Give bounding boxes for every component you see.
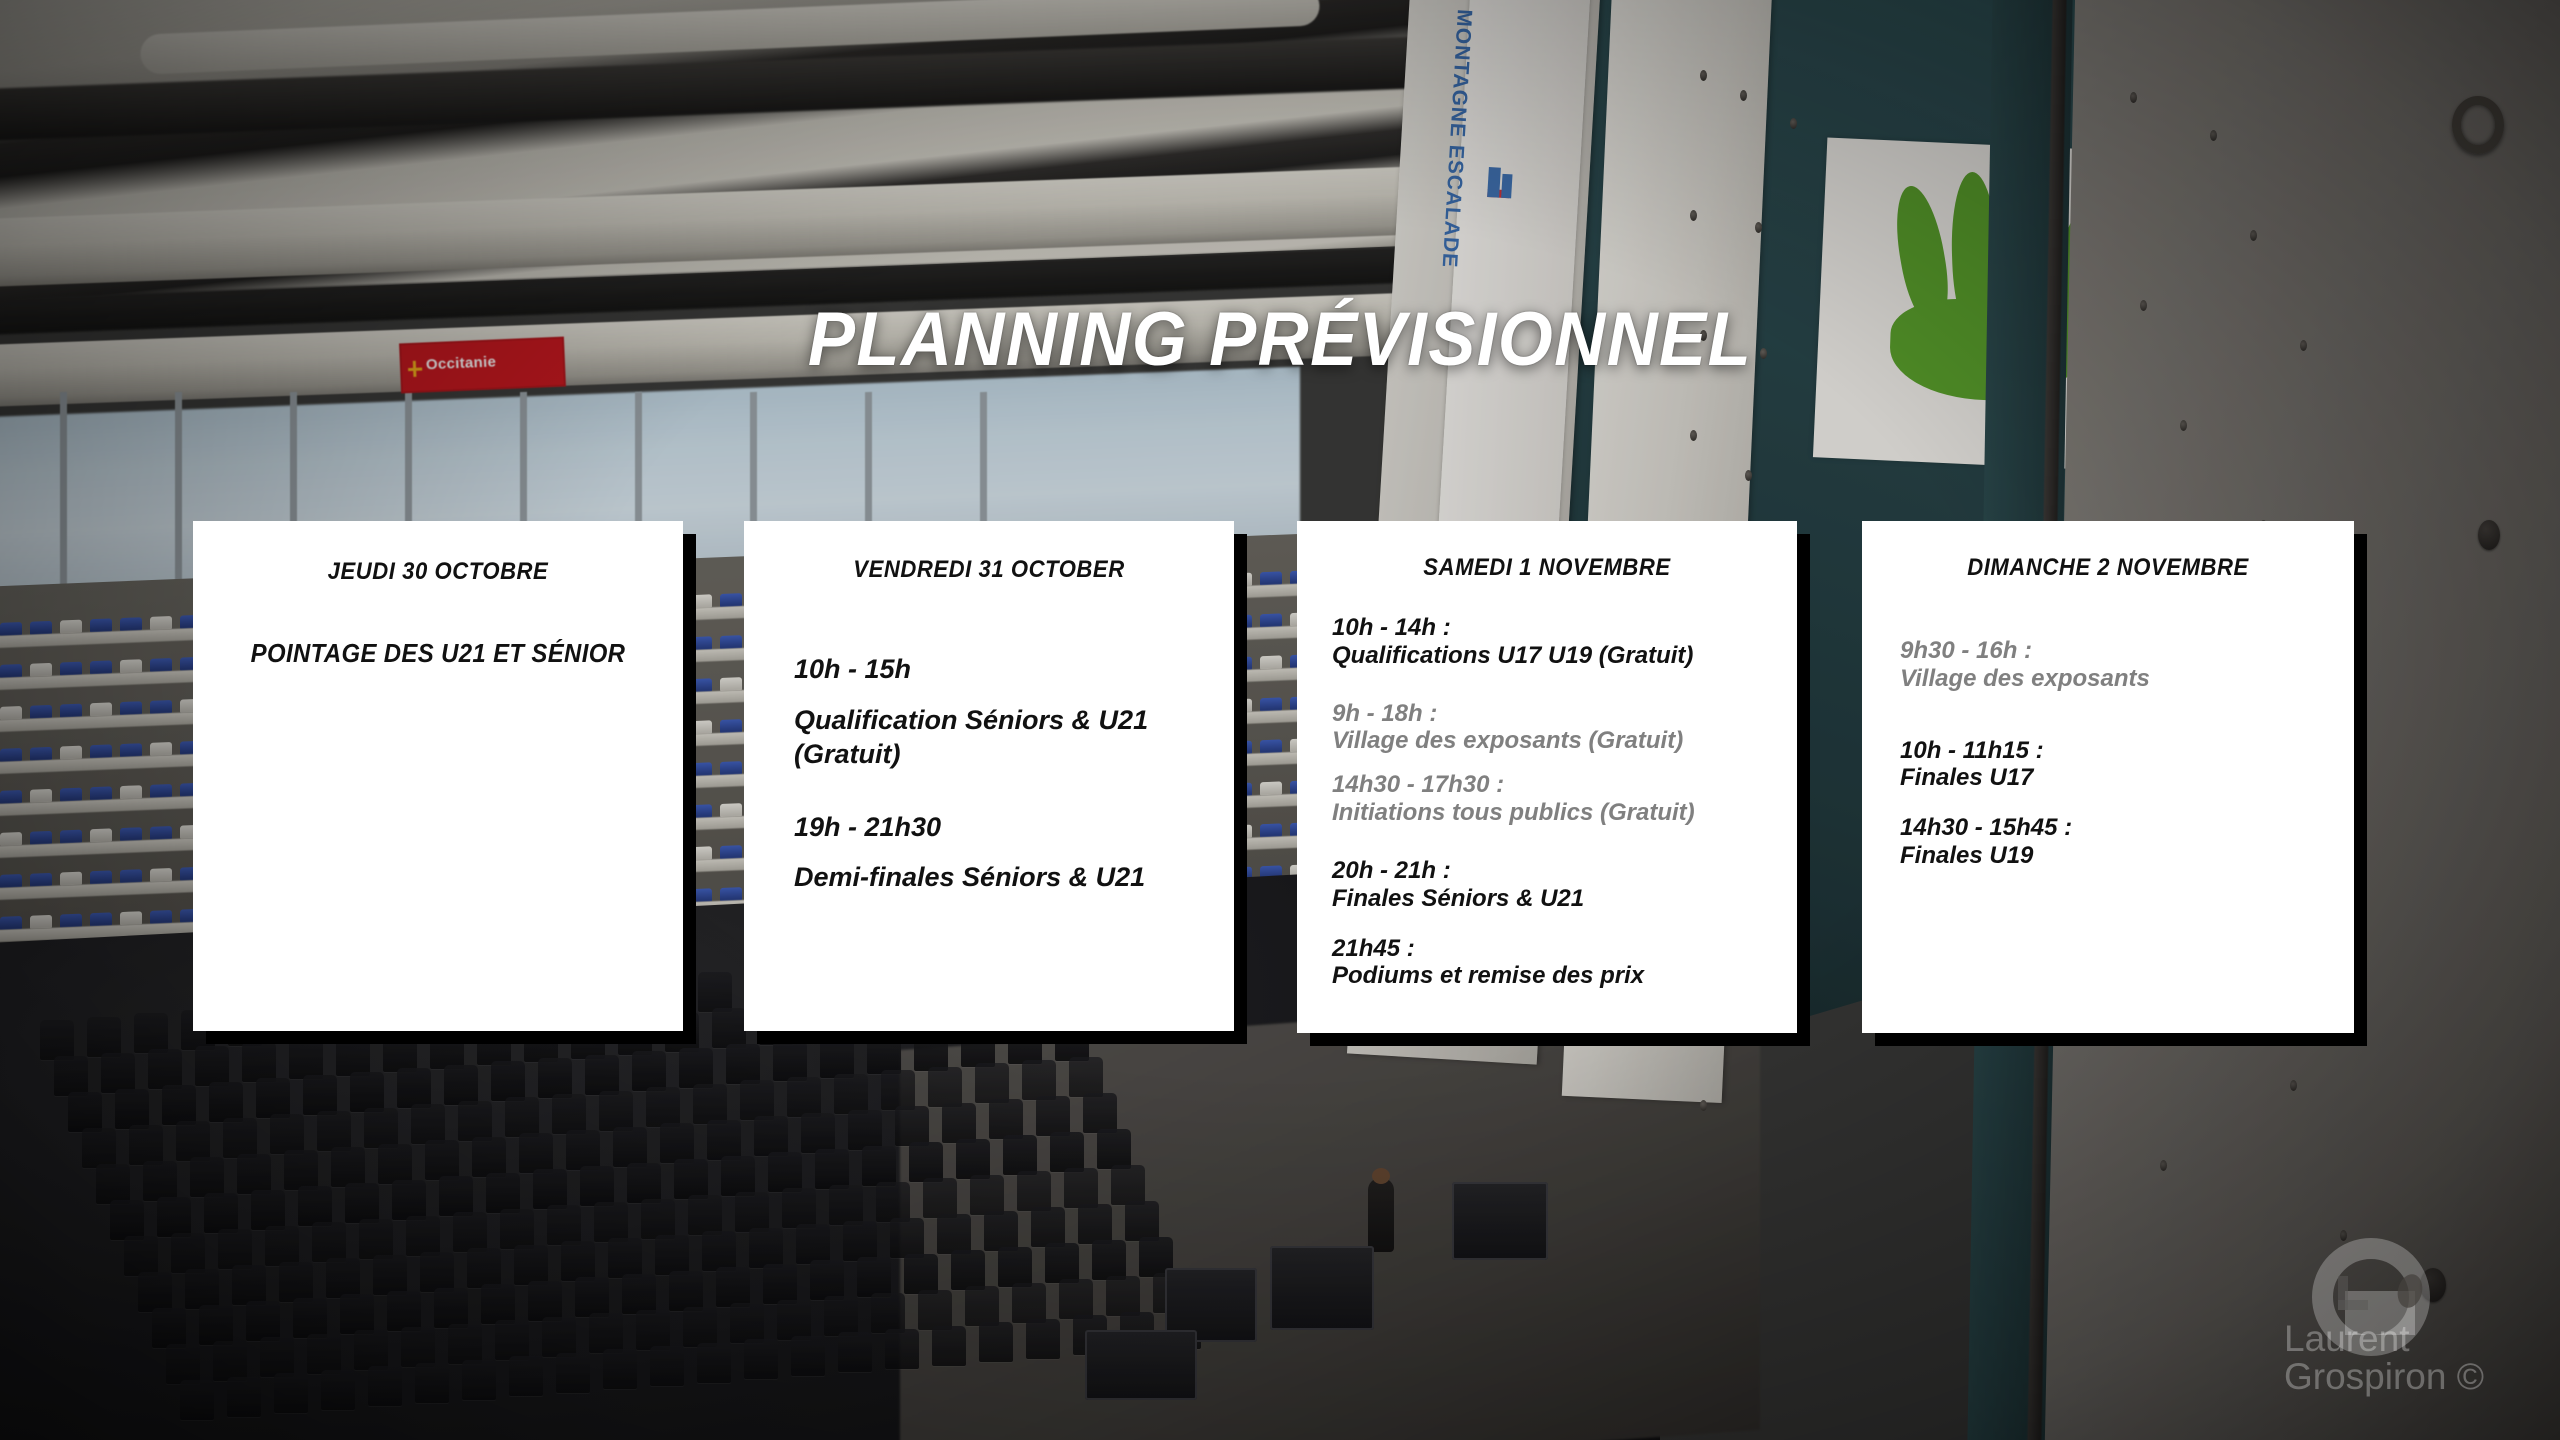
entry-time: 21h45 : (1332, 935, 1782, 963)
schedule-entry: 9h - 18h : Village des exposants (Gratui… (1332, 700, 1782, 756)
schedule-entry: 19h - 21h30 Demi-finales Séniors & U21 (794, 810, 1174, 895)
schedule-cards: JEUDI 30 OCTOBRE POINTAGE DES U21 ET SÉN… (0, 0, 2560, 1440)
day-card-title: VENDREDI 31 OCTOBER (764, 556, 1215, 584)
entry-desc: Finales U19 (1900, 842, 2330, 870)
entry-desc: Finales U17 (1900, 764, 2330, 792)
day-card-friday: VENDREDI 31 OCTOBER 10h - 15h Qualificat… (744, 521, 1234, 1031)
schedule-entry: 10h - 15h Qualification Séniors & U21 (G… (794, 652, 1174, 772)
day-card-sunday: DIMANCHE 2 NOVEMBRE 9h30 - 16h : Village… (1862, 521, 2354, 1033)
entry-desc: Demi-finales Séniors & U21 (794, 860, 1174, 895)
day-card-title: JEUDI 30 OCTOBRE (213, 558, 664, 586)
entry-time: 19h - 21h30 (794, 810, 1174, 845)
entry-desc: Qualifications U17 U19 (Gratuit) (1332, 642, 1782, 670)
day-card-thursday: JEUDI 30 OCTOBRE POINTAGE DES U21 ET SÉN… (193, 521, 683, 1031)
entry-time: 9h - 18h : (1332, 700, 1782, 728)
entry-desc: Podiums et remise des prix (1332, 962, 1782, 990)
schedule-entry: 10h - 11h15 : Finales U17 (1900, 737, 2330, 793)
entry-desc: Initiations tous publics (Gratuit) (1332, 799, 1782, 827)
schedule-entry: 9h30 - 16h : Village des exposants (1900, 637, 2330, 693)
day-card-title: DIMANCHE 2 NOVEMBRE (1882, 554, 2335, 582)
day-card-saturday: SAMEDI 1 NOVEMBRE 10h - 14h : Qualificat… (1297, 521, 1797, 1033)
entry-time: 14h30 - 17h30 : (1332, 771, 1782, 799)
day-card-entries: 10h - 15h Qualification Séniors & U21 (G… (794, 652, 1174, 895)
day-card-lead: POINTAGE DES U21 ET SÉNIOR (213, 638, 664, 669)
entry-time: 9h30 - 16h : (1900, 637, 2330, 665)
entry-time: 10h - 15h (794, 652, 1174, 687)
entry-desc: Qualification Séniors & U21 (Gratuit) (794, 703, 1174, 772)
entry-desc: Finales Séniors & U21 (1332, 885, 1782, 913)
schedule-entry: 14h30 - 15h45 : Finales U19 (1900, 814, 2330, 870)
entry-time: 10h - 14h : (1332, 614, 1782, 642)
day-card-entries: 10h - 14h : Qualifications U17 U19 (Grat… (1332, 614, 1782, 990)
entry-time: 20h - 21h : (1332, 857, 1782, 885)
entry-desc: Village des exposants (1900, 665, 2330, 693)
schedule-entry: 21h45 : Podiums et remise des prix (1332, 935, 1782, 991)
schedule-entry: 14h30 - 17h30 : Initiations tous publics… (1332, 771, 1782, 827)
day-card-title: SAMEDI 1 NOVEMBRE (1317, 554, 1777, 582)
day-card-entries: 9h30 - 16h : Village des exposants 10h -… (1900, 637, 2330, 870)
schedule-entry: 20h - 21h : Finales Séniors & U21 (1332, 857, 1782, 913)
poster-stage: MONTAGNE ESCALADE PLANNING PRÉVISIONNEL … (0, 0, 2560, 1440)
entry-time: 10h - 11h15 : (1900, 737, 2330, 765)
schedule-entry: 10h - 14h : Qualifications U17 U19 (Grat… (1332, 614, 1782, 670)
entry-desc: Village des exposants (Gratuit) (1332, 727, 1782, 755)
entry-time: 14h30 - 15h45 : (1900, 814, 2330, 842)
